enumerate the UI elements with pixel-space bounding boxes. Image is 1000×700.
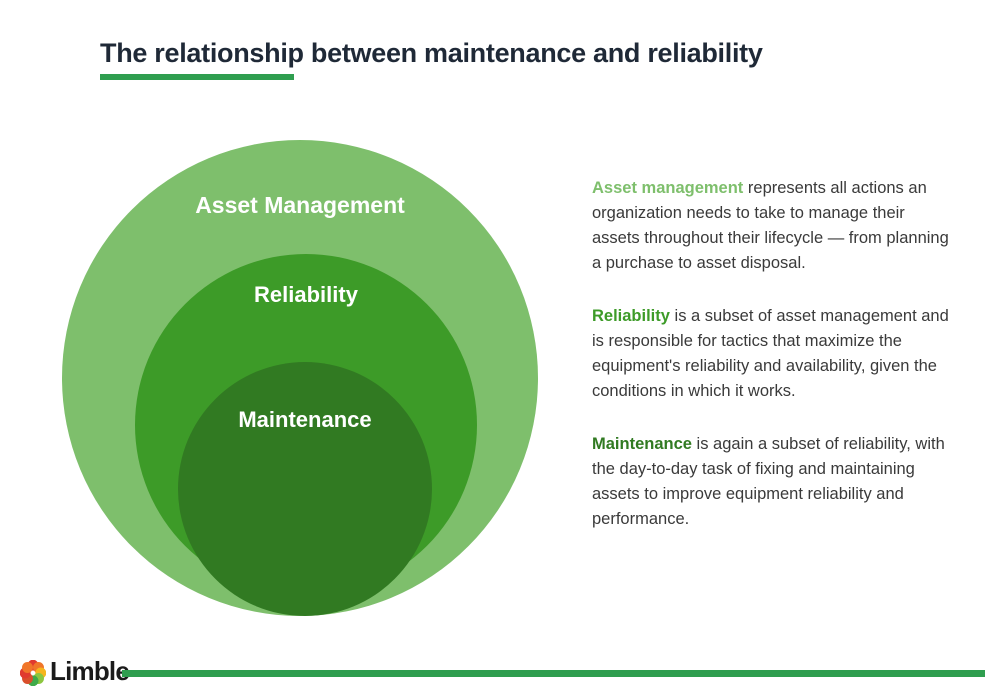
footer-rule	[122, 670, 985, 677]
paragraph-reliability: Reliability is a subset of asset managem…	[592, 304, 952, 404]
lead-in-asset-management: Asset management	[592, 179, 743, 197]
nested-circles-diagram: Asset Management Reliability Maintenance	[62, 140, 540, 618]
lead-in-maintenance: Maintenance	[592, 435, 692, 453]
circle-label-maintenance: Maintenance	[178, 407, 432, 433]
paragraph-maintenance: Maintenance is again a subset of reliabi…	[592, 432, 952, 532]
limble-pinwheel-logo-icon	[20, 660, 46, 686]
circle-label-asset-management: Asset Management	[62, 192, 538, 219]
page-title: The relationship between maintenance and…	[100, 38, 763, 69]
circle-label-reliability: Reliability	[135, 282, 477, 308]
limble-brand-name: Limble	[50, 656, 129, 687]
circle-maintenance: Maintenance	[178, 362, 432, 616]
paragraph-asset-management: Asset management represents all actions …	[592, 176, 952, 276]
footer: Limble	[0, 652, 1000, 700]
description-column: Asset management represents all actions …	[592, 176, 952, 532]
title-accent-underline	[100, 74, 294, 80]
lead-in-reliability: Reliability	[592, 307, 670, 325]
